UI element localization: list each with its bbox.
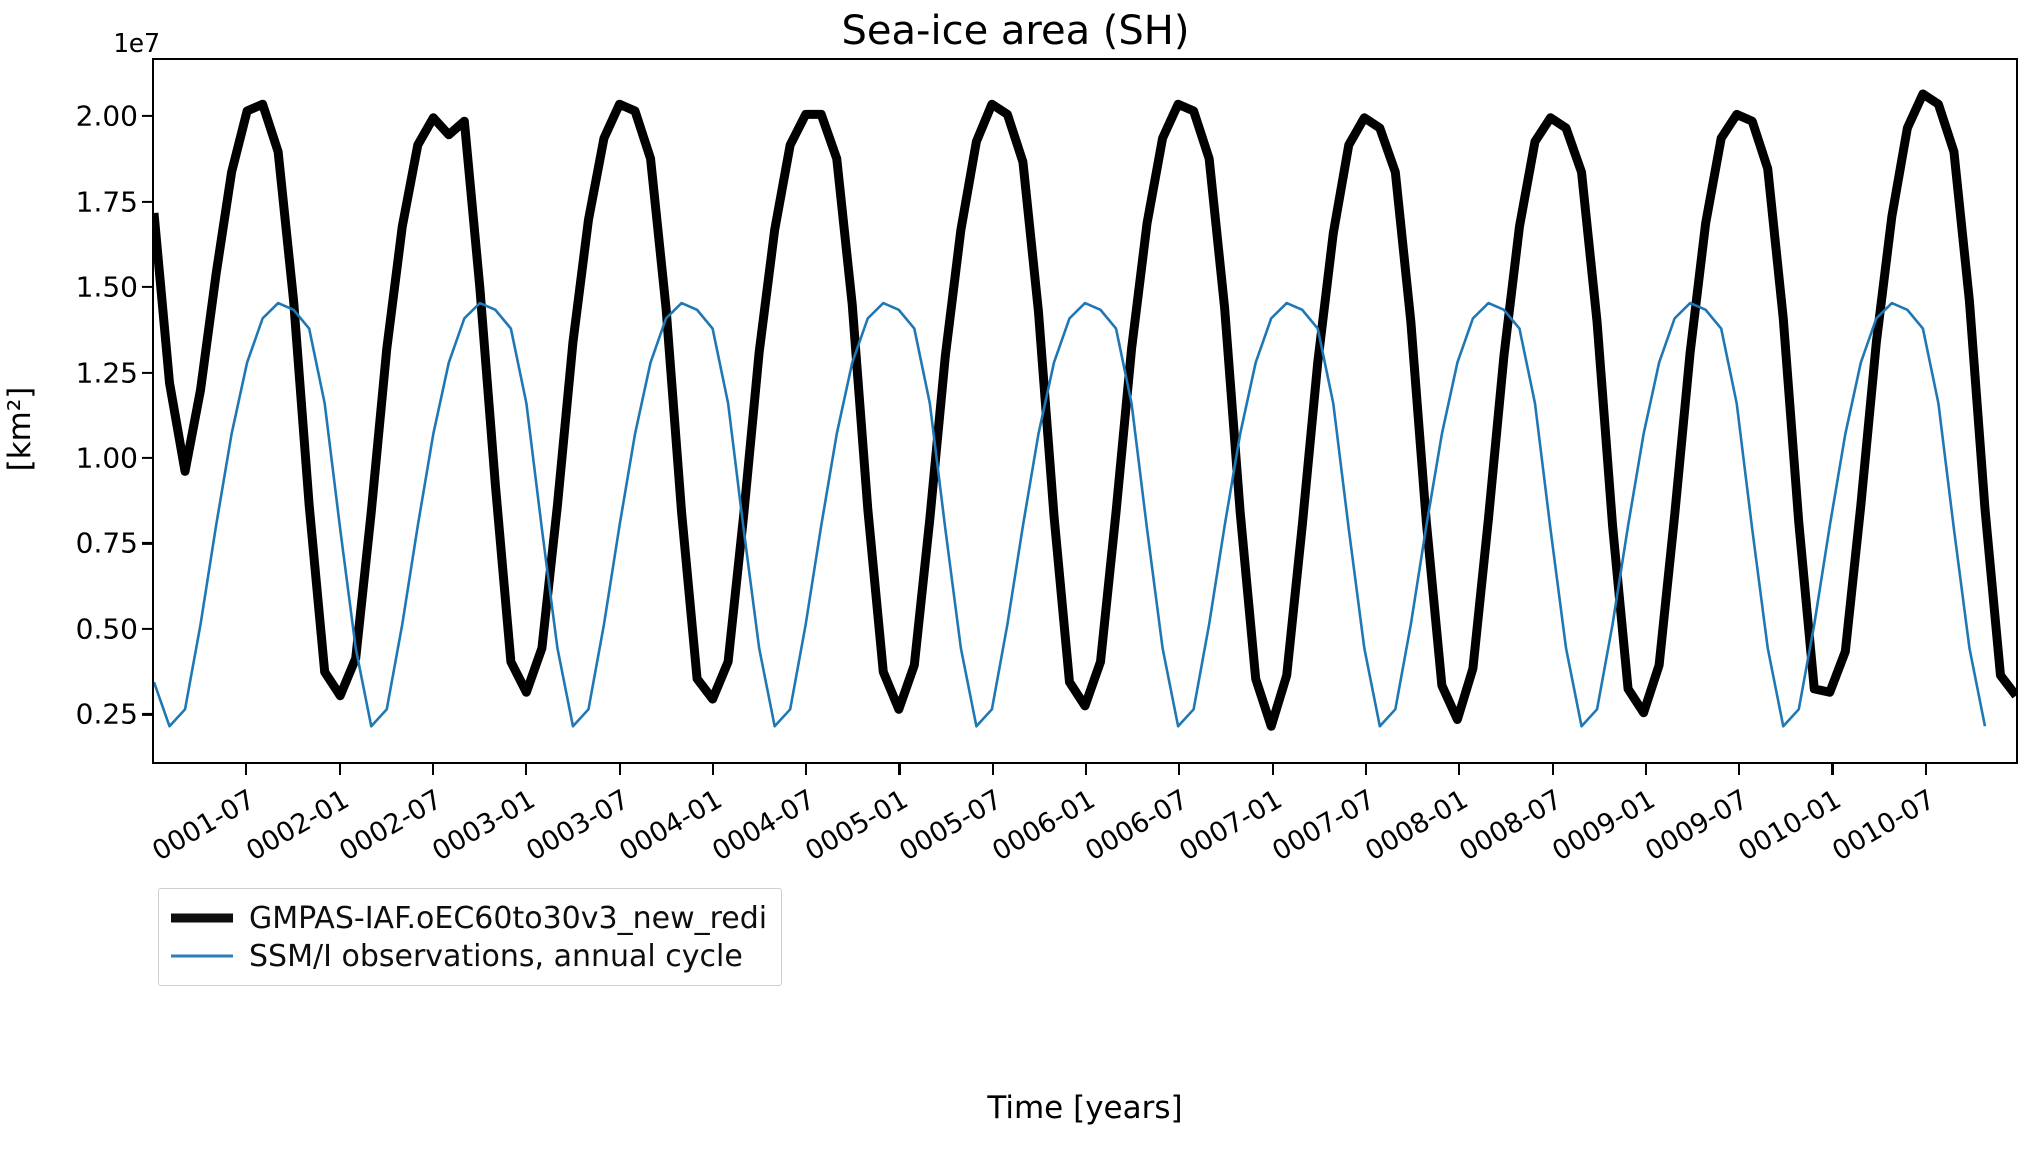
x-tick-mark	[1925, 764, 1927, 775]
legend-swatch-model-icon	[171, 907, 233, 929]
y-tick-mark	[142, 286, 152, 288]
y-tick-mark	[142, 115, 152, 117]
y-tick-label: 0.25	[76, 698, 138, 731]
y-tick-label: 1.50	[76, 271, 138, 304]
plot-lines	[154, 60, 2016, 762]
x-tick-mark	[1458, 764, 1460, 775]
x-tick-mark	[1272, 764, 1274, 775]
x-tick-mark	[1645, 764, 1647, 775]
x-tick-mark	[992, 764, 994, 775]
plot-area	[152, 58, 2018, 764]
x-axis-label: Time [years]	[152, 1090, 2018, 1126]
legend-label-model: GMPAS-IAF.oEC60to30v3_new_redi	[249, 901, 767, 936]
y-tick-mark	[142, 457, 152, 459]
x-tick-mark	[1831, 764, 1833, 775]
y-tick-label: 0.75	[76, 527, 138, 560]
x-tick-mark	[1365, 764, 1367, 775]
x-tick-mark	[1178, 764, 1180, 775]
x-tick-mark	[339, 764, 341, 775]
y-tick-label: 1.00	[76, 442, 138, 475]
y-tick-label: 0.50	[76, 612, 138, 645]
chart-title: Sea-ice area (SH)	[0, 8, 2031, 54]
legend[interactable]: GMPAS-IAF.oEC60to30v3_new_redi SSM/I obs…	[158, 888, 782, 986]
x-tick-mark	[1085, 764, 1087, 775]
y-tick-label: 2.00	[76, 100, 138, 133]
x-tick-mark	[245, 764, 247, 775]
legend-item-model[interactable]: GMPAS-IAF.oEC60to30v3_new_redi	[171, 899, 767, 937]
y-tick-mark	[142, 542, 152, 544]
figure: Sea-ice area (SH) 1e7 [km²] Time [years]…	[0, 0, 2031, 1164]
y-tick-label: 1.25	[76, 356, 138, 389]
x-tick-mark	[432, 764, 434, 775]
x-tick-mark	[619, 764, 621, 775]
x-tick-mark	[1738, 764, 1740, 775]
y-tick-mark	[142, 713, 152, 715]
y-tick-mark	[142, 200, 152, 202]
x-tick-mark	[712, 764, 714, 775]
x-tick-mark	[805, 764, 807, 775]
y-tick-mark	[142, 371, 152, 373]
y-tick-mark	[142, 628, 152, 630]
y-tick-label: 1.75	[76, 185, 138, 218]
legend-label-observations: SSM/I observations, annual cycle	[249, 939, 743, 974]
y-axis-offset-text: 1e7	[113, 29, 160, 59]
legend-item-observations[interactable]: SSM/I observations, annual cycle	[171, 937, 767, 975]
x-tick-mark	[898, 764, 900, 775]
x-tick-mark	[525, 764, 527, 775]
y-tick-label-group: 2.001.751.501.251.000.750.500.25	[0, 58, 138, 764]
legend-swatch-observations-icon	[171, 945, 233, 967]
x-tick-mark	[1552, 764, 1554, 775]
